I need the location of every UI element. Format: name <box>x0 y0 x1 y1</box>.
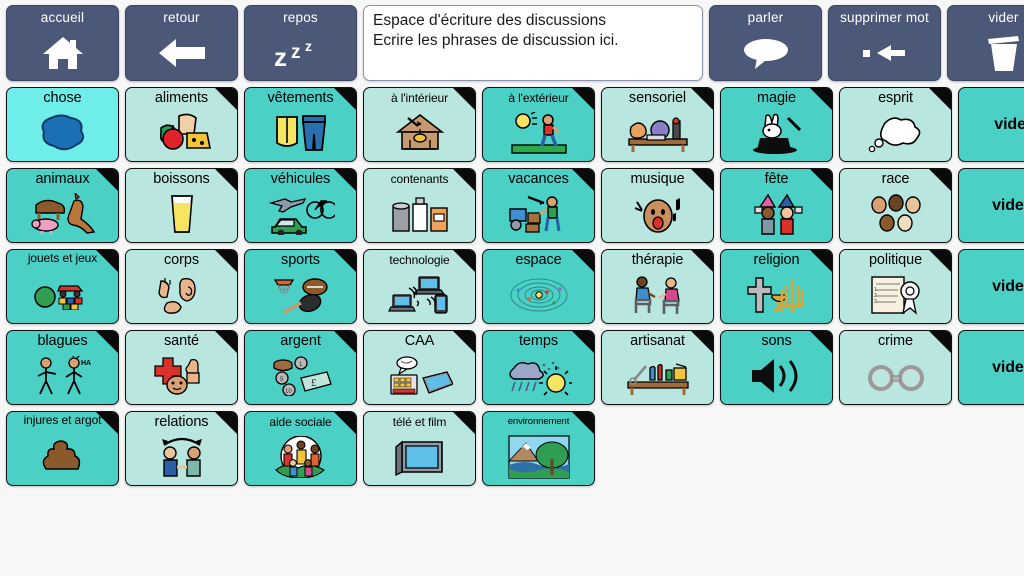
cell-label: corps <box>126 250 237 268</box>
cell-corps[interactable]: corps <box>125 249 238 324</box>
clothing-icon <box>245 106 356 162</box>
cell-vacances[interactable]: vacances <box>482 168 595 243</box>
blob-shape-icon <box>7 106 118 162</box>
grid-spacer <box>839 411 952 488</box>
cell-label: relations <box>126 412 237 430</box>
home-button-label: accueil <box>41 11 84 25</box>
cell-label: politique <box>840 250 951 268</box>
grid-row-5: injures et argot relations <box>3 409 1021 490</box>
cell-label: environnement <box>483 412 594 430</box>
cell-tele-et-film[interactable]: télé et film <box>363 411 476 486</box>
cell-race[interactable]: race <box>839 168 952 243</box>
solar-system-icon <box>483 268 594 324</box>
trash-can-icon <box>948 25 1024 80</box>
grid-row-4: blagues HA santé <box>3 328 1021 409</box>
cell-contenants[interactable]: contenants <box>363 168 476 243</box>
cell-religion[interactable]: religion <box>720 249 833 324</box>
cell-injures-et-argot[interactable]: injures et argot <box>6 411 119 486</box>
cell-label: sons <box>721 331 832 349</box>
svg-text:z: z <box>291 42 301 63</box>
backspace-icon <box>829 25 940 80</box>
outdoors-walking-icon <box>483 106 594 162</box>
health-cross-icon <box>126 349 237 405</box>
cell-therapie[interactable]: thérapie <box>601 249 714 324</box>
speaker-sound-icon <box>721 349 832 405</box>
therapy-session-icon <box>602 268 713 324</box>
cell-label: chose <box>7 88 118 106</box>
toys-games-icon <box>7 265 118 323</box>
cell-label: vacances <box>483 169 594 187</box>
sensory-table-icon <box>602 106 713 162</box>
cell-label: vêtements <box>245 88 356 106</box>
cell-label: fête <box>721 169 832 187</box>
relationships-icon <box>126 430 237 486</box>
cell-label: religion <box>721 250 832 268</box>
cell-a-l-interieur[interactable]: à l'intérieur <box>363 87 476 162</box>
crafts-table-icon <box>602 349 713 405</box>
cell-blagues[interactable]: blagues HA <box>6 330 119 405</box>
containers-icon <box>364 187 475 243</box>
clear-button-label: vider <box>988 11 1018 25</box>
cell-sons[interactable]: sons <box>720 330 833 405</box>
cell-sports[interactable]: sports <box>244 249 357 324</box>
cell-label: vide 4 <box>959 359 1024 377</box>
grid-spacer <box>958 411 1024 488</box>
magic-hat-rabbit-icon <box>721 106 832 162</box>
speak-button[interactable]: parler <box>709 5 822 81</box>
cell-label: argent <box>245 331 356 349</box>
cell-caa[interactable]: CAA <box>363 330 476 405</box>
home-button[interactable]: accueil <box>6 5 119 81</box>
cell-label: contenants <box>364 169 475 187</box>
cell-label: sensoriel <box>602 88 713 106</box>
cell-vide1[interactable]: vide1 <box>958 87 1024 162</box>
weather-rain-sun-icon <box>483 349 594 405</box>
cell-temps[interactable]: temps <box>482 330 595 405</box>
party-icon <box>721 187 832 243</box>
home-icon <box>7 25 118 80</box>
cell-label: blagues <box>7 331 118 349</box>
food-icon <box>126 106 237 162</box>
cell-label: aide sociale <box>245 412 356 430</box>
indoors-house-icon <box>364 106 475 162</box>
cell-animaux[interactable]: animaux <box>6 168 119 243</box>
svg-text:HA: HA <box>81 360 91 367</box>
cell-label: vide1 <box>959 116 1024 134</box>
cell-label: musique <box>602 169 713 187</box>
political-ballot-icon: 1 2 3 <box>840 268 951 324</box>
cell-label: vide 2 <box>959 197 1024 215</box>
speech-bubble-icon <box>710 25 821 80</box>
cell-jouets-et-jeux[interactable]: jouets et jeux <box>6 249 119 324</box>
rest-button[interactable]: repos z z z <box>244 5 357 81</box>
sports-balls-icon <box>245 268 356 324</box>
svg-text:10: 10 <box>285 389 292 395</box>
cell-label: race <box>840 169 951 187</box>
vacation-luggage-icon <box>483 187 594 243</box>
cell-boissons[interactable]: boissons <box>125 168 238 243</box>
cell-label: vide 3 <box>959 278 1024 296</box>
poop-emoji-icon <box>7 427 118 485</box>
message-writing-area[interactable]: Espace d'écriture des discussions Ecrire… <box>363 5 703 81</box>
svg-text:z: z <box>305 38 312 54</box>
handcuffs-icon <box>840 349 951 405</box>
animals-icon <box>7 187 118 243</box>
back-button-label: retour <box>163 11 199 25</box>
speak-button-label: parler <box>748 11 784 25</box>
cell-vide2[interactable]: vide 2 <box>958 168 1024 243</box>
cell-label: technologie <box>364 250 475 268</box>
cell-environnement[interactable]: environnement <box>482 411 595 486</box>
cell-vetements[interactable]: vêtements <box>244 87 357 162</box>
svg-text:z: z <box>274 42 287 70</box>
grid-row-3: jouets et jeux corps <box>3 247 1021 328</box>
cell-label: thérapie <box>602 250 713 268</box>
cell-label: magie <box>721 88 832 106</box>
rest-button-label: repos <box>283 11 318 25</box>
cell-label: véhicules <box>245 169 356 187</box>
svg-text:3: 3 <box>874 299 877 305</box>
cell-artisanat[interactable]: artisanat <box>601 330 714 405</box>
sleep-zzz-icon: z z z <box>245 25 356 80</box>
cell-vehicules[interactable]: véhicules <box>244 168 357 243</box>
cell-label: artisanat <box>602 331 713 349</box>
cell-label: injures et argot <box>7 412 118 427</box>
delete-word-button-label: supprimer mot <box>840 11 929 25</box>
cell-label: CAA <box>364 331 475 349</box>
cell-musique[interactable]: musique <box>601 168 714 243</box>
cell-label: espace <box>483 250 594 268</box>
cell-label: temps <box>483 331 594 349</box>
cell-espace[interactable]: espace <box>482 249 595 324</box>
cell-label: crime <box>840 331 951 349</box>
cell-esprit[interactable]: esprit <box>839 87 952 162</box>
cell-relations[interactable]: relations <box>125 411 238 486</box>
grid-row-2: animaux boissons <box>3 166 1021 247</box>
social-support-icon <box>245 430 356 486</box>
delete-word-button[interactable]: supprimer mot <box>828 5 941 81</box>
aac-communication-board: accueil retour repos z z z Espace d'écri… <box>0 0 1024 576</box>
cell-chose[interactable]: chose <box>6 87 119 162</box>
cell-aide-sociale[interactable]: aide sociale <box>244 411 357 486</box>
environment-landscape-icon <box>483 430 594 486</box>
grid-spacer <box>601 411 714 488</box>
vehicles-icon <box>245 187 356 243</box>
cell-technologie[interactable]: technologie <box>363 249 476 324</box>
cell-a-l-exterieur[interactable]: à l'extérieur <box>482 87 595 162</box>
cell-label: télé et film <box>364 412 475 430</box>
religion-symbols-icon <box>721 268 832 324</box>
television-icon <box>364 430 475 486</box>
diverse-faces-icon <box>840 187 951 243</box>
cell-sensoriel[interactable]: sensoriel <box>601 87 714 162</box>
body-parts-icon <box>126 268 237 324</box>
cell-sante[interactable]: santé <box>125 330 238 405</box>
cell-vide3[interactable]: vide 3 <box>958 249 1024 324</box>
cell-magie[interactable]: magie <box>720 87 833 162</box>
toolbar: accueil retour repos z z z Espace d'écri… <box>3 3 1021 85</box>
drink-glass-icon <box>126 187 237 243</box>
back-arrow-icon <box>126 25 237 80</box>
cell-label: à l'extérieur <box>483 88 594 106</box>
cell-label: animaux <box>7 169 118 187</box>
aac-device-icon <box>364 349 475 405</box>
cell-label: aliments <box>126 88 237 106</box>
cell-crime[interactable]: crime <box>839 330 952 405</box>
clear-button[interactable]: vider <box>947 5 1024 81</box>
thought-cloud-icon <box>840 106 951 162</box>
cell-vide4[interactable]: vide 4 <box>958 330 1024 405</box>
svg-text:£: £ <box>311 377 317 389</box>
writing-area-line-2: Ecrire les phrases de discussion ici. <box>373 31 693 51</box>
cell-label: sports <box>245 250 356 268</box>
singing-face-icon <box>602 187 713 243</box>
joke-laughing-icon: HA <box>7 349 118 405</box>
money-coins-icon: 1 5 10 £ <box>245 349 356 405</box>
grid-row-1: chose aliments vêtements <box>3 85 1021 166</box>
cell-argent[interactable]: argent 1 5 10 £ <box>244 330 357 405</box>
cell-politique[interactable]: politique 1 2 3 <box>839 249 952 324</box>
cell-label: esprit <box>840 88 951 106</box>
writing-area-line-1: Espace d'écriture des discussions <box>373 11 693 31</box>
cell-label: jouets et jeux <box>7 250 118 265</box>
cell-fete[interactable]: fête <box>720 168 833 243</box>
cell-aliments[interactable]: aliments <box>125 87 238 162</box>
technology-devices-icon <box>364 268 475 324</box>
cell-label: à l'intérieur <box>364 88 475 106</box>
grid-spacer <box>720 411 833 488</box>
cell-label: boissons <box>126 169 237 187</box>
cell-label: santé <box>126 331 237 349</box>
back-button[interactable]: retour <box>125 5 238 81</box>
